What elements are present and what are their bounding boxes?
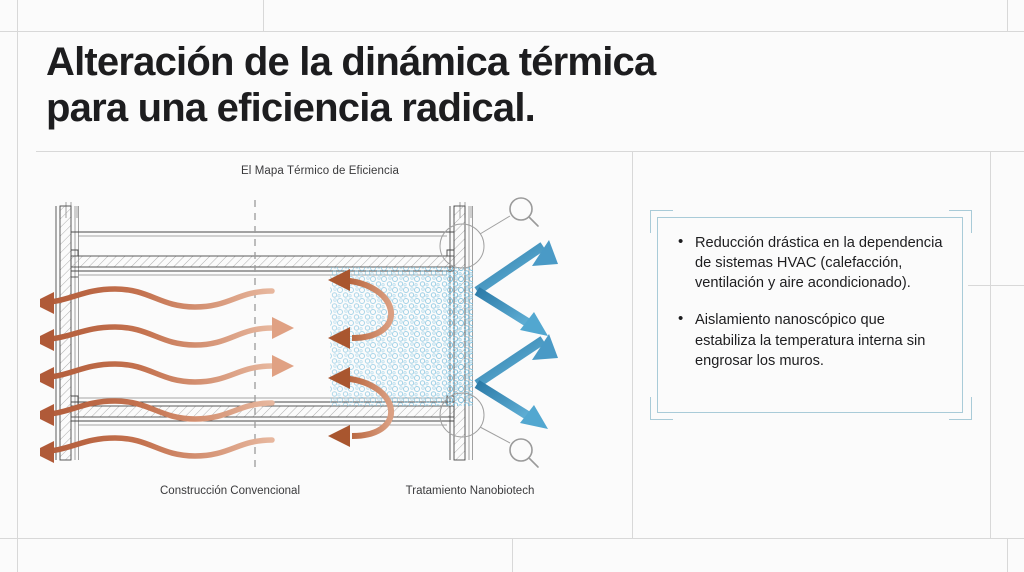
grid-line-vertical-top-b xyxy=(1007,0,1008,31)
thermal-map-diagram: El Mapa Térmico de Eficiencia xyxy=(40,160,600,510)
page-title-line-2: para una eficiencia radical. xyxy=(46,86,806,132)
page-title: Alteración de la dinámica térmica para u… xyxy=(46,40,806,131)
grid-line-vertical-right xyxy=(990,151,991,538)
page-title-line-1: Alteración de la dinámica térmica xyxy=(46,40,806,86)
grid-line-horizontal-top xyxy=(0,31,1024,32)
list-item: Reducción drástica en la dependencia de … xyxy=(678,233,949,293)
diagram-caption-left: Construcción Convencional xyxy=(100,485,360,497)
diagram-drawing xyxy=(40,188,600,478)
heat-loss-arrowheads xyxy=(40,292,54,463)
slide-canvas: Alteración de la dinámica térmica para u… xyxy=(0,0,1024,572)
callout-leader-bottom xyxy=(480,427,510,443)
grid-line-vertical-top-a xyxy=(263,0,264,31)
benefits-list: Reducción drástica en la dependencia de … xyxy=(678,233,949,371)
diagram-heading: El Mapa Térmico de Eficiencia xyxy=(40,165,600,177)
grid-line-vertical-bottom-b xyxy=(1007,538,1008,572)
benefits-panel: Reducción drástica en la dependencia de … xyxy=(650,205,975,425)
deflection-arrows-lower xyxy=(477,334,558,429)
callout-leader-top xyxy=(480,216,510,234)
diagram-caption-right: Tratamiento Nanobiotech xyxy=(340,485,600,497)
list-item: Aislamiento nanoscópico que estabiliza l… xyxy=(678,310,949,370)
grid-line-horizontal-upper xyxy=(36,151,1024,152)
grid-line-vertical-center xyxy=(632,151,633,538)
nano-coating-on-wall xyxy=(448,267,473,406)
deflection-arrows-upper xyxy=(477,240,558,336)
grid-line-vertical-left xyxy=(17,0,18,572)
magnifier-icon xyxy=(510,439,538,467)
magnifier-icon xyxy=(510,198,538,226)
grid-line-vertical-bottom-a xyxy=(512,538,513,572)
heat-transfer-arrowheads xyxy=(272,317,294,377)
grid-line-horizontal-mid xyxy=(968,285,1024,286)
